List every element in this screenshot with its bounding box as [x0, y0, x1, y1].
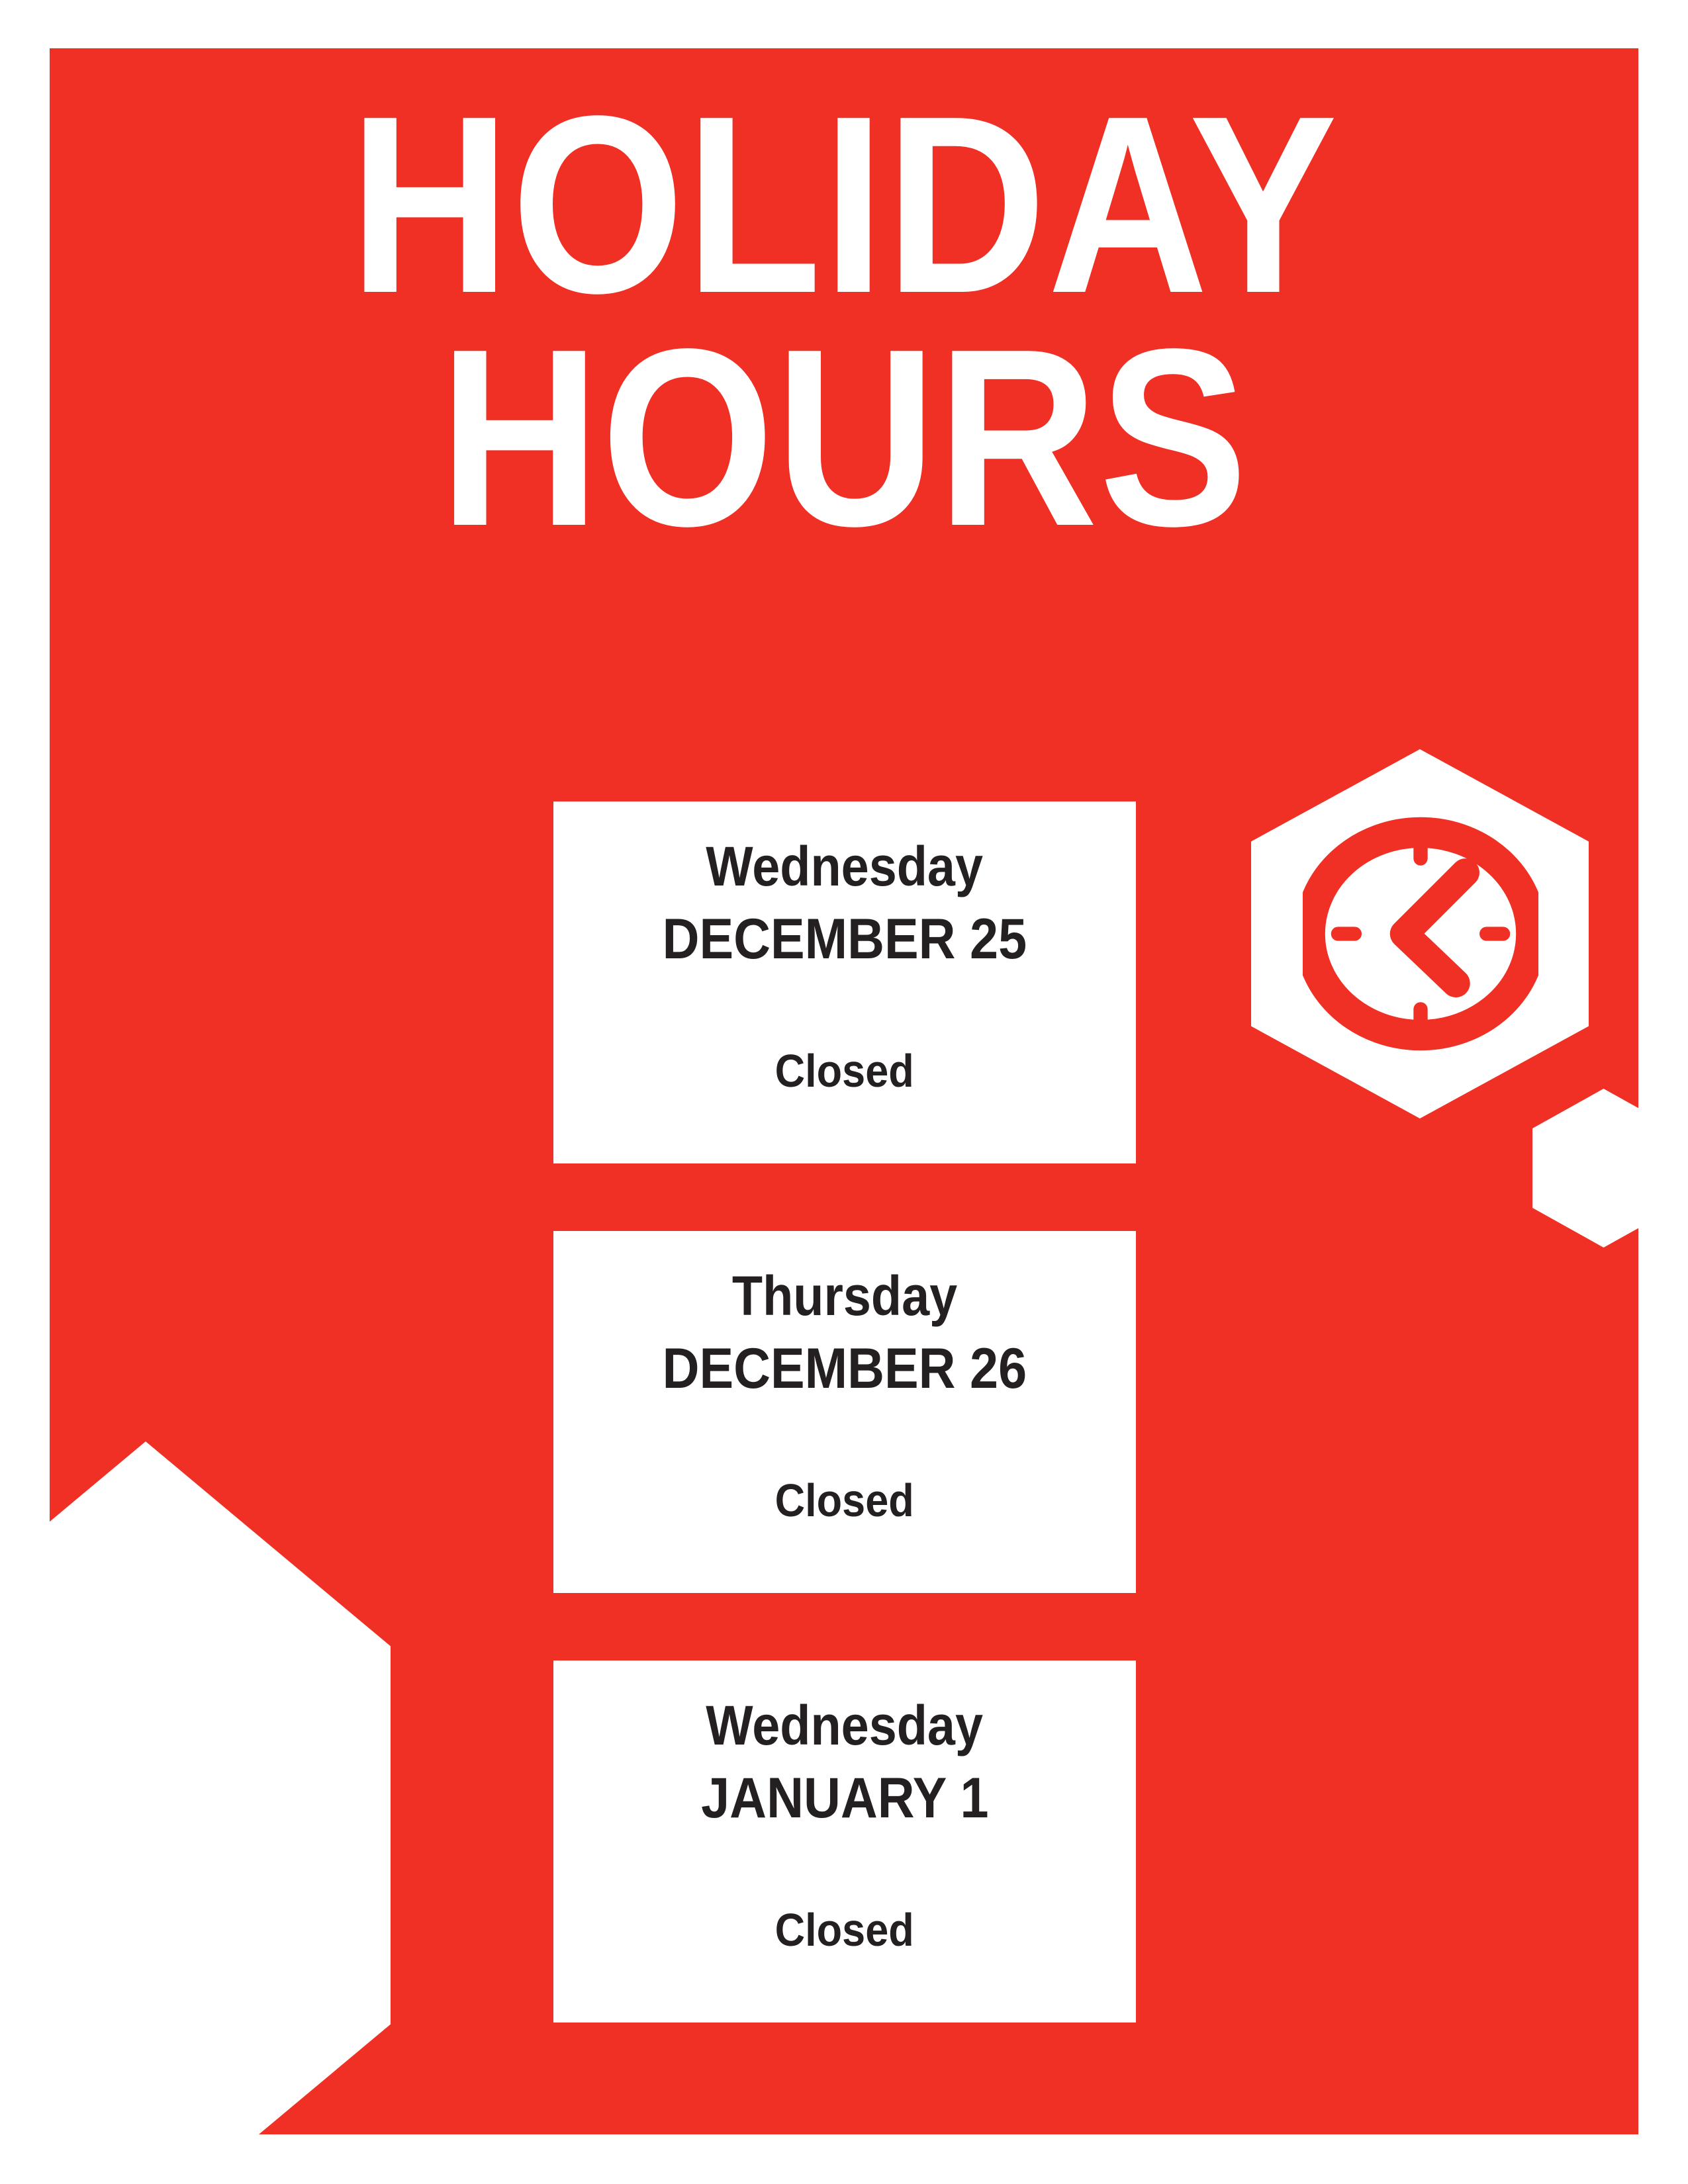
- holiday-card: Wednesday DECEMBER 25 Closed: [553, 801, 1136, 1163]
- clock-icon: [1303, 816, 1538, 1052]
- page-title: HOLIDAY HOURS: [50, 88, 1638, 554]
- holiday-hours-poster: HOLIDAY HOURS Wedn: [0, 0, 1688, 2184]
- hexagon-accent-bottom-left: [50, 1441, 391, 2134]
- holiday-card: Thursday DECEMBER 26 Closed: [553, 1231, 1136, 1593]
- holiday-card-date: DECEMBER 25: [663, 905, 1027, 974]
- holiday-card-weekday: Wednesday: [706, 836, 984, 897]
- title-line-hours: HOURS: [145, 321, 1543, 554]
- holiday-card-weekday: Wednesday: [706, 1695, 984, 1756]
- holiday-card-weekday: Thursday: [732, 1265, 957, 1326]
- holiday-card-status: Closed: [775, 1045, 914, 1097]
- hexagon-accent-small: [1532, 1089, 1638, 1248]
- holiday-card: Wednesday JANUARY 1 Closed: [553, 1661, 1136, 2023]
- holiday-card-status: Closed: [775, 1475, 914, 1526]
- poster-background-panel: HOLIDAY HOURS Wedn: [50, 48, 1638, 2134]
- holiday-card-date: JANUARY 1: [701, 1764, 988, 1833]
- holiday-card-list: Wednesday DECEMBER 25 Closed Thursday DE…: [553, 801, 1136, 2023]
- title-line-holiday: HOLIDAY: [145, 88, 1543, 321]
- holiday-card-date: DECEMBER 26: [663, 1334, 1027, 1403]
- holiday-card-status: Closed: [775, 1904, 914, 1956]
